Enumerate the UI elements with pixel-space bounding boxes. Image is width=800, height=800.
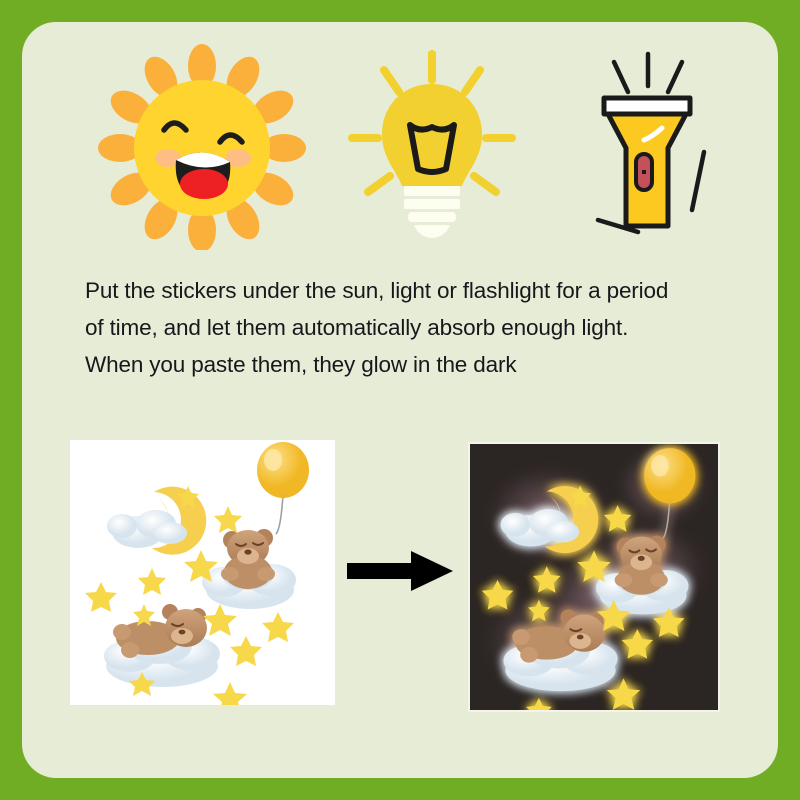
lightbulb-icon-graphic — [322, 40, 542, 250]
flashlight-icon-graphic — [542, 40, 762, 250]
sun-icon-graphic — [92, 40, 312, 250]
instruction-line-3: When you paste them, they glow in the da… — [85, 346, 730, 383]
sleeping-bear-on-cloud — [104, 604, 220, 687]
sticker-scene-daylight — [70, 440, 335, 705]
sitting-bear-on-cloud — [202, 529, 296, 609]
flashlight-icon — [542, 40, 762, 250]
light-source-icons — [22, 40, 778, 250]
sticker-photo-daylight — [70, 440, 335, 705]
instruction-line-1: Put the stickers under the sun, light or… — [85, 272, 730, 309]
lightbulb-icon — [322, 40, 542, 250]
arrow-right-icon — [345, 548, 455, 594]
outer-green-border: Put the stickers under the sun, light or… — [0, 0, 800, 800]
sticker-photo-dark — [468, 442, 720, 712]
sun-icon — [92, 40, 312, 250]
sticker-scene-dark — [470, 444, 718, 710]
instruction-line-2: of time, and let them automatically abso… — [85, 309, 730, 346]
transition-arrow — [345, 548, 455, 594]
balloon — [257, 442, 309, 534]
instruction-paragraph: Put the stickers under the sun, light or… — [85, 272, 730, 383]
